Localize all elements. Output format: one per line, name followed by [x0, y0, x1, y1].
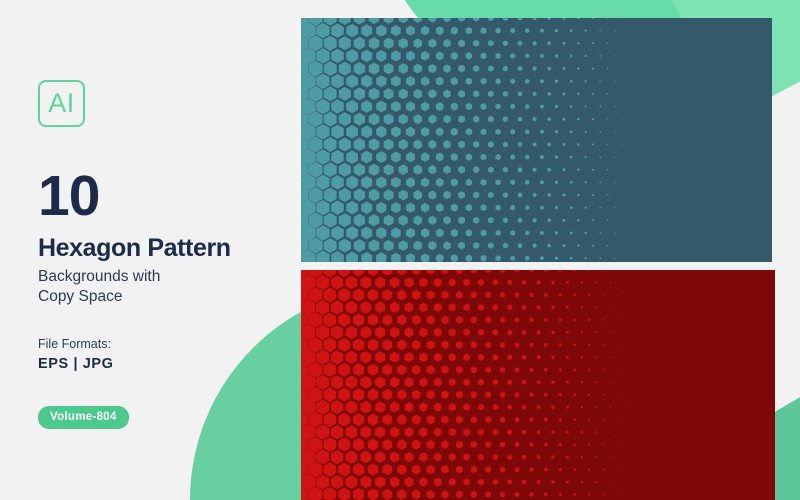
poster-canvas: AI 10 Hexagon Pattern Backgrounds with C… — [0, 0, 800, 500]
info-panel: AI 10 Hexagon Pattern Backgrounds with C… — [38, 80, 288, 429]
teal-hexagon-pattern — [301, 18, 772, 262]
teal-hexagon-panel — [301, 18, 772, 262]
volume-badge: Volume-804 — [38, 406, 129, 429]
adobe-illustrator-badge-label: AI — [48, 90, 75, 117]
red-hexagon-panel — [301, 270, 775, 500]
adobe-illustrator-badge-icon: AI — [38, 80, 85, 127]
item-count: 10 — [38, 169, 288, 223]
page-title: Hexagon Pattern — [38, 235, 288, 262]
file-formats-block: File Formats: EPS | JPG — [38, 337, 288, 372]
file-formats-value: EPS | JPG — [38, 356, 288, 372]
red-hexagon-pattern — [301, 270, 775, 500]
file-formats-label: File Formats: — [38, 337, 288, 351]
page-subtitle-line-2: Copy Space — [38, 287, 288, 307]
page-subtitle-line-1: Backgrounds with — [38, 267, 288, 287]
page-subtitle: Backgrounds with Copy Space — [38, 267, 288, 307]
